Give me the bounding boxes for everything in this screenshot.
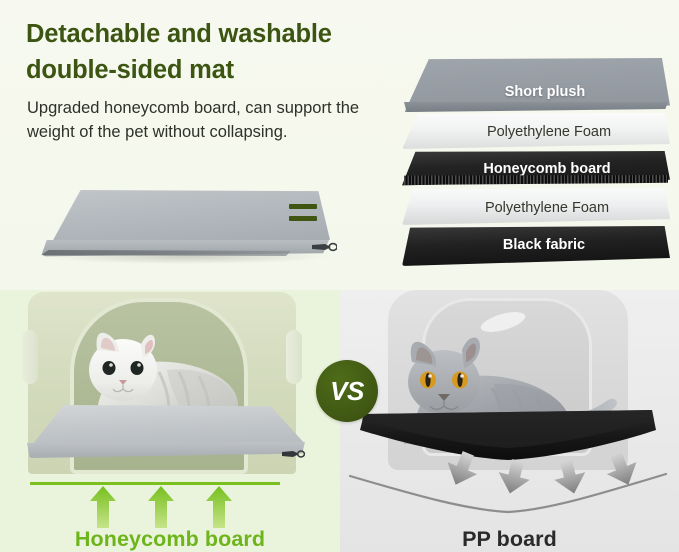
arrow-up-icon	[206, 486, 232, 528]
honeycomb-mat-left	[24, 405, 309, 467]
comparison-panel-left: Honeycomb board	[0, 290, 340, 552]
layer-honeycomb-board-label: Honeycomb board	[483, 161, 610, 177]
comparison-panel-right: PP board	[340, 290, 679, 552]
layer-honeycomb-board: Honeycomb board	[402, 151, 670, 191]
layer-short-plush-edge	[404, 102, 668, 112]
honeycomb-mat-edge	[27, 442, 305, 458]
layer-polyethylene-foam-1-label: Polyethylene Foam	[487, 124, 611, 140]
product-infographic: Detachable and washable double-sided mat…	[0, 0, 679, 552]
caption-honeycomb-board: Honeycomb board	[0, 527, 340, 552]
equals-icon	[289, 200, 317, 226]
carrier-handle-right	[286, 330, 302, 384]
vs-badge-label: VS	[330, 376, 364, 407]
layer-short-plush-label: Short plush	[505, 84, 586, 100]
caption-pp-board: PP board	[340, 527, 679, 552]
arrow-up-icon	[148, 486, 174, 528]
support-line-green	[30, 482, 280, 485]
zipper-pull-icon	[311, 240, 337, 253]
mat-top-surface	[40, 190, 330, 248]
layer-black-fabric: Black fabric	[402, 226, 670, 266]
headline-line-1-text: Detachable and washable	[26, 20, 332, 48]
arrow-down-icon	[441, 447, 483, 491]
layer-polyethylene-foam-2-label: Polyethylene Foam	[485, 200, 609, 216]
layer-black-fabric-label: Black fabric	[503, 237, 585, 253]
arrow-down-icon	[550, 457, 589, 498]
arrow-up-icon	[90, 486, 116, 528]
headline-line-2: double-sided mat	[26, 52, 234, 88]
headline-block: Detachable and washable double-sided mat	[26, 16, 406, 88]
vs-badge: VS	[316, 360, 378, 422]
headline-line-2-text: double-sided mat	[26, 56, 234, 84]
comparison-section: Honeycomb board	[0, 290, 679, 552]
zipper-pull-left-icon	[281, 447, 305, 459]
arrow-down-icon	[601, 447, 643, 491]
downward-arrows-group	[358, 450, 658, 498]
layer-stack-diagram: Short plush Polyethylene Foam Honeycomb …	[402, 58, 670, 270]
honeycomb-flute-texture	[404, 175, 668, 185]
layer-polyethylene-foam-1: Polyethylene Foam	[402, 113, 670, 149]
mat-illustration	[10, 182, 355, 277]
arrow-down-icon	[494, 457, 533, 498]
carrier-handle-left	[22, 330, 38, 384]
subtext-paragraph: Upgraded honeycomb board, can support th…	[27, 96, 392, 145]
mat-dark-underside	[41, 250, 291, 256]
layer-polyethylene-foam-2: Polyethylene Foam	[402, 188, 670, 225]
headline-line-1: Detachable and washable	[26, 16, 332, 52]
upward-arrows-group	[30, 486, 280, 528]
top-section: Detachable and washable double-sided mat…	[0, 0, 679, 290]
